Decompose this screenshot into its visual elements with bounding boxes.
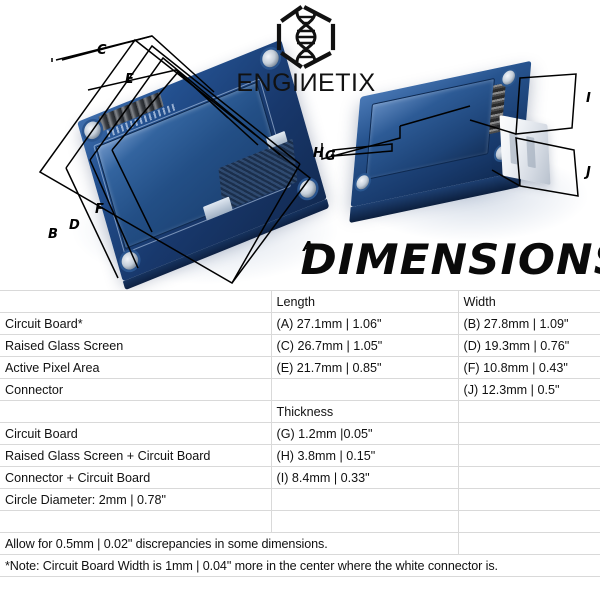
callout-label-i: I — [586, 92, 591, 105]
row-length — [271, 379, 458, 401]
row-label: Active Pixel Area — [0, 357, 271, 379]
header-blank — [0, 291, 271, 313]
row-width: (F) 10.8mm | 0.43" — [458, 357, 600, 379]
callout-label-f: F — [95, 203, 104, 216]
table-row: Connector (J) 12.3mm | 0.5" — [0, 379, 600, 401]
callout-bracket-i — [516, 74, 576, 134]
callout-label-b: B — [48, 228, 58, 241]
note-empty — [458, 533, 600, 555]
thickness-header-row: Thickness — [0, 401, 600, 423]
row-empty — [458, 489, 600, 511]
header-blank-3 — [458, 401, 600, 423]
circuit-board-width-note: *Note: Circuit Board Width is 1mm | 0.04… — [0, 555, 600, 577]
row-label: Circuit Board — [0, 423, 271, 445]
table-row: Circuit Board* (A) 27.1mm | 1.06" (B) 27… — [0, 313, 600, 335]
dimensions-spec-sheet: C E A B D F H G I J — [0, 0, 600, 600]
table-row: Circuit Board (G) 1.2mm |0.05" — [0, 423, 600, 445]
table-row: Circle Diameter: 2mm | 0.78" — [0, 489, 600, 511]
hero-image-panel: C E A B D F H G I J — [0, 0, 600, 290]
brand-wordmark: ENGINETIX — [228, 71, 384, 96]
table-row: Active Pixel Area (E) 21.7mm | 0.85" (F)… — [0, 357, 600, 379]
brand-logo: ENGINETIX — [228, 4, 384, 96]
callout-label-h: H — [313, 147, 324, 160]
table-spacer-row — [0, 511, 600, 533]
header-blank-2 — [0, 401, 271, 423]
callout-label-g: G — [325, 150, 336, 163]
row-label: Circuit Board* — [0, 313, 271, 335]
row-label: Circle Diameter: 2mm | 0.78" — [0, 489, 271, 511]
row-label: Connector — [0, 379, 271, 401]
callout-leader-i — [470, 120, 516, 134]
dimensions-table: Length Width Circuit Board* (A) 27.1mm |… — [0, 290, 600, 577]
table-row: Raised Glass Screen + Circuit Board (H) … — [0, 445, 600, 467]
callout-drop-a — [232, 164, 300, 283]
spacer-cell — [458, 511, 600, 533]
row-width: (B) 27.8mm | 1.09" — [458, 313, 600, 335]
row-label: Raised Glass Screen — [0, 335, 271, 357]
table-row: Raised Glass Screen (C) 26.7mm | 1.05" (… — [0, 335, 600, 357]
row-length: (A) 27.1mm | 1.06" — [271, 313, 458, 335]
row-empty — [458, 423, 600, 445]
row-label: Raised Glass Screen + Circuit Board — [0, 445, 271, 467]
allowance-note: Allow for 0.5mm | 0.02" discrepancies in… — [0, 533, 458, 555]
row-empty — [458, 445, 600, 467]
row-thickness — [271, 489, 458, 511]
header-width: Width — [458, 291, 600, 313]
callout-leader-h — [400, 106, 470, 126]
callout-label-e: E — [125, 73, 134, 86]
row-length: (E) 21.7mm | 0.85" — [271, 357, 458, 379]
brand-wordmark-flipped-n: N — [299, 71, 318, 96]
header-thickness: Thickness — [271, 401, 458, 423]
callout-label-j: J — [586, 166, 591, 179]
row-thickness: (I) 8.4mm | 0.33" — [271, 467, 458, 489]
row-length: (C) 26.7mm | 1.05" — [271, 335, 458, 357]
row-empty — [458, 467, 600, 489]
table-header-row: Length Width — [0, 291, 600, 313]
note-row: *Note: Circuit Board Width is 1mm | 0.04… — [0, 555, 600, 577]
page-title: DIMENSIONS — [300, 236, 600, 284]
brand-wordmark-part2: ETIX — [318, 69, 376, 97]
row-thickness: (H) 3.8mm | 0.15" — [271, 445, 458, 467]
callout-label-c: C — [97, 44, 107, 57]
dimensions-table-wrapper: Length Width Circuit Board* (A) 27.1mm |… — [0, 290, 600, 577]
callout-drop-f — [112, 150, 152, 232]
header-length: Length — [271, 291, 458, 313]
row-thickness: (G) 1.2mm |0.05" — [271, 423, 458, 445]
spacer-cell — [271, 511, 458, 533]
row-width: (J) 12.3mm | 0.5" — [458, 379, 600, 401]
row-label: Connector + Circuit Board — [0, 467, 271, 489]
spacer-cell — [0, 511, 271, 533]
row-width: (D) 19.3mm | 0.76" — [458, 335, 600, 357]
note-row: Allow for 0.5mm | 0.02" discrepancies in… — [0, 533, 600, 555]
table-row: Connector + Circuit Board (I) 8.4mm | 0.… — [0, 467, 600, 489]
callout-leader-j — [492, 170, 520, 186]
hexagon-dna-icon — [271, 4, 341, 70]
brand-wordmark-part1: ENGI — [236, 69, 299, 97]
callout-label-d: D — [69, 219, 80, 232]
callout-bracket-j — [516, 138, 578, 196]
